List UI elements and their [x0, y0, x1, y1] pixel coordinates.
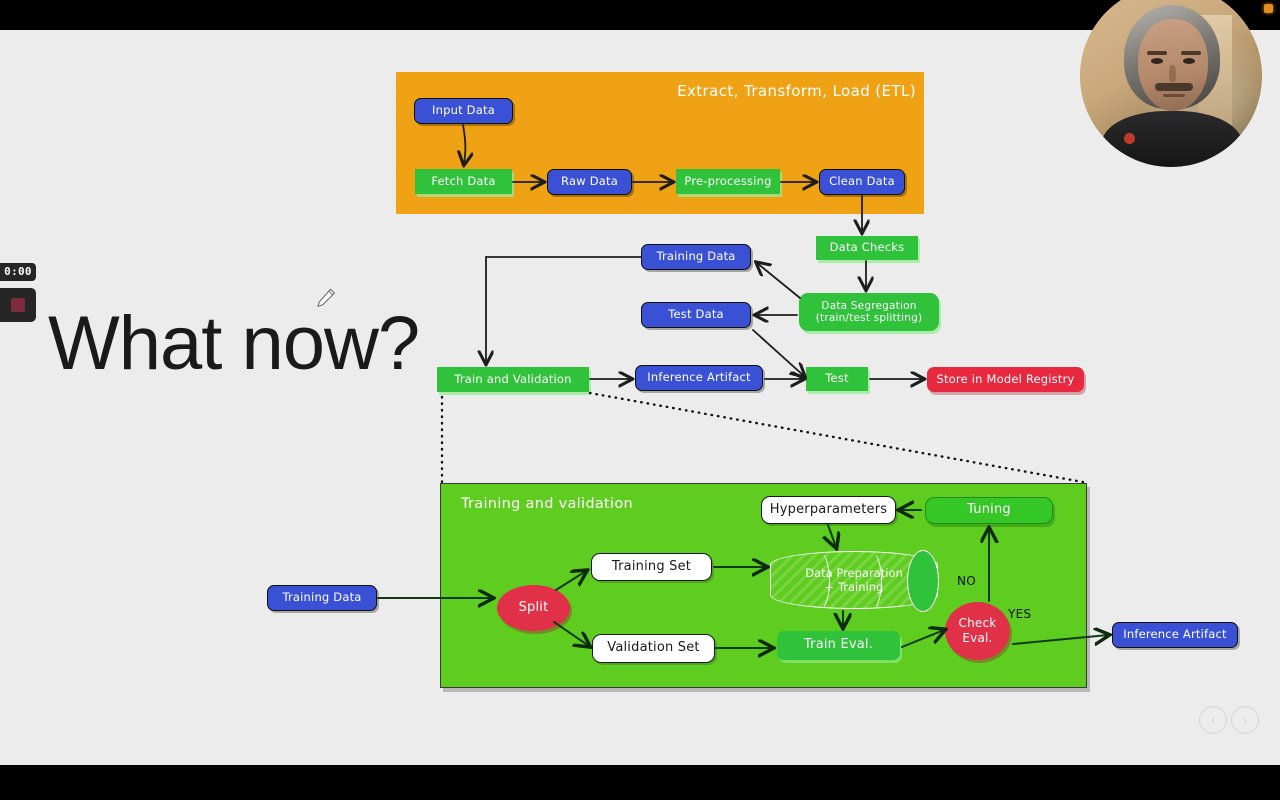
node-inference-artifact[interactable]: Inference Artifact — [635, 365, 763, 391]
webcam-eyebrow-left — [1147, 51, 1167, 55]
node-data-preparation-training[interactable]: Data Preparation + Training — [770, 551, 938, 609]
training-validation-title: Training and validation — [461, 496, 633, 512]
cylinder-label: Data Preparation + Training — [770, 551, 938, 609]
webcam-eye-right — [1183, 58, 1195, 64]
node-validation-set[interactable]: Validation Set — [592, 634, 715, 663]
webcam-shirt-logo — [1124, 133, 1135, 144]
screen-recording-stage: 0:00 What now? Extract, Transform, Load … — [0, 0, 1280, 800]
webcam-video-bubble[interactable] — [1080, 0, 1262, 167]
node-clean-data[interactable]: Clean Data — [819, 169, 905, 195]
node-test[interactable]: Test — [806, 367, 868, 391]
previous-slide-button[interactable]: ‹ — [1199, 706, 1227, 734]
node-inference-artifact-output[interactable]: Inference Artifact — [1112, 622, 1238, 648]
node-check-eval[interactable]: Check Eval. — [945, 602, 1010, 660]
edge-label-no: NO — [957, 574, 976, 588]
node-hyperparameters[interactable]: Hyperparameters — [761, 496, 896, 524]
webcam-letterbox-mask — [1080, 0, 1262, 30]
node-training-data-input[interactable]: Training Data — [267, 585, 377, 611]
node-raw-data[interactable]: Raw Data — [547, 169, 632, 195]
node-input-data[interactable]: Input Data — [414, 98, 513, 124]
node-train-and-validation[interactable]: Train and Validation — [437, 367, 589, 392]
webcam-eyebrow-right — [1181, 51, 1201, 55]
node-training-set[interactable]: Training Set — [591, 553, 712, 581]
node-test-data[interactable]: Test Data — [641, 302, 751, 328]
webcam-nose — [1169, 65, 1176, 82]
node-train-eval[interactable]: Train Eval. — [777, 631, 900, 660]
node-pre-processing[interactable]: Pre-processing — [676, 169, 780, 194]
webcam-moustache — [1155, 83, 1193, 91]
webcam-person-torso — [1102, 111, 1242, 167]
node-tuning[interactable]: Tuning — [925, 497, 1053, 524]
etl-panel-title: Extract, Transform, Load (ETL) — [666, 82, 916, 100]
node-training-data[interactable]: Training Data — [641, 244, 751, 270]
node-data-checks[interactable]: Data Checks — [816, 236, 918, 260]
letterbox-bottom — [0, 765, 1280, 800]
node-store-in-model-registry[interactable]: Store in Model Registry — [927, 367, 1084, 392]
next-slide-button[interactable]: › — [1231, 706, 1259, 734]
webcam-mouth — [1163, 94, 1185, 97]
edge-label-yes: YES — [1008, 607, 1031, 621]
webcam-eye-left — [1151, 58, 1163, 64]
node-data-segregation[interactable]: Data Segregation (train/test splitting) — [799, 293, 939, 331]
recording-indicator-dot — [1264, 4, 1273, 13]
node-fetch-data[interactable]: Fetch Data — [415, 169, 512, 194]
node-split[interactable]: Split — [497, 585, 570, 631]
